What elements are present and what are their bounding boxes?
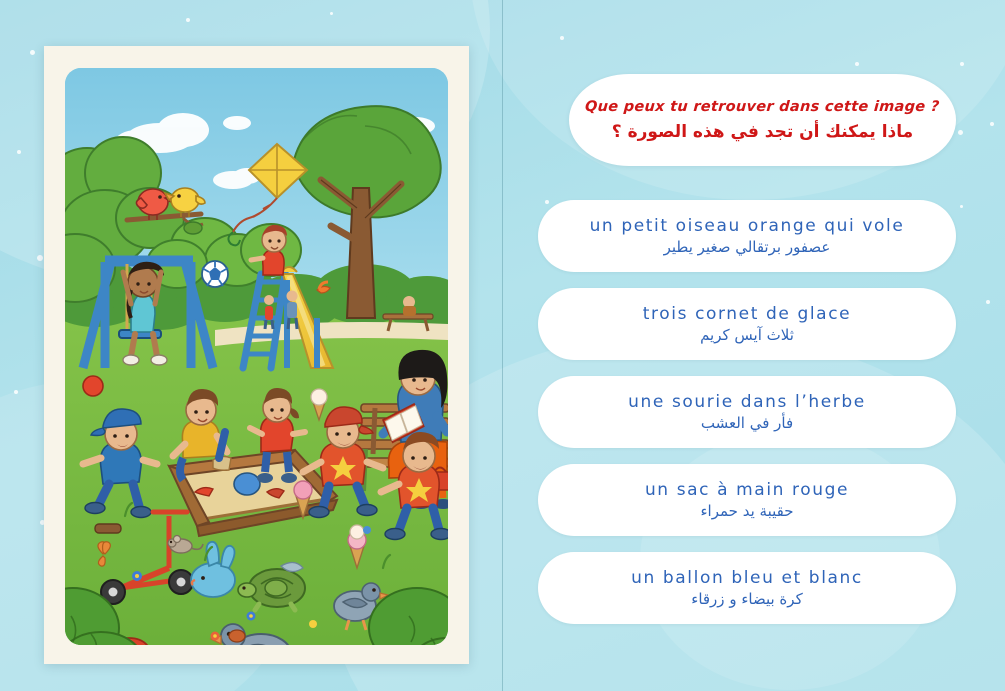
list-item[interactable]: trois cornet de glace ثلاث آيس كريم — [538, 288, 956, 360]
question-french: Que peux tu retrouver dans cette image ? — [585, 99, 941, 115]
item-arabic: حقيبة يد حمراء — [701, 502, 794, 520]
question-panel: Que peux tu retrouver dans cette image ?… — [503, 0, 1005, 691]
list-item[interactable]: un sac à main rouge حقيبة يد حمراء — [538, 464, 956, 536]
item-arabic: فأر في العشب — [701, 414, 793, 432]
item-arabic: ثلاث آيس كريم — [700, 326, 794, 344]
sparkle-dot — [330, 12, 333, 15]
item-french: un petit oiseau orange qui vole — [590, 216, 905, 236]
question-arabic: ماذا يمكنك أن تجد في هذه الصورة ؟ — [612, 122, 913, 142]
title-bubble: Que peux tu retrouver dans cette image ?… — [569, 74, 956, 166]
list-item[interactable]: un ballon bleu et blanc كرة بيضاء و زرقا… — [538, 552, 956, 624]
worksheet-page: Que peux tu retrouver dans cette image ?… — [0, 0, 1005, 691]
item-french: un ballon bleu et blanc — [631, 568, 863, 588]
item-arabic: كرة بيضاء و زرقاء — [691, 590, 802, 608]
sparkle-dot — [30, 50, 35, 55]
item-french: une sourie dans l’herbe — [628, 392, 866, 412]
sparkle-dot — [186, 18, 190, 22]
playground-scene-illustration — [65, 68, 448, 645]
sparkle-dot — [17, 150, 21, 154]
sparkle-dot — [37, 255, 43, 261]
item-arabic: عصفور برتقالي صغير يطير — [664, 238, 831, 256]
item-french: trois cornet de glace — [643, 304, 851, 324]
item-list: un petit oiseau orange qui vole عصفور بر… — [538, 200, 956, 640]
item-french: un sac à main rouge — [645, 480, 849, 500]
list-item[interactable]: un petit oiseau orange qui vole عصفور بر… — [538, 200, 956, 272]
list-item[interactable]: une sourie dans l’herbe فأر في العشب — [538, 376, 956, 448]
sparkle-dot — [14, 390, 18, 394]
illustration-frame — [44, 46, 469, 664]
